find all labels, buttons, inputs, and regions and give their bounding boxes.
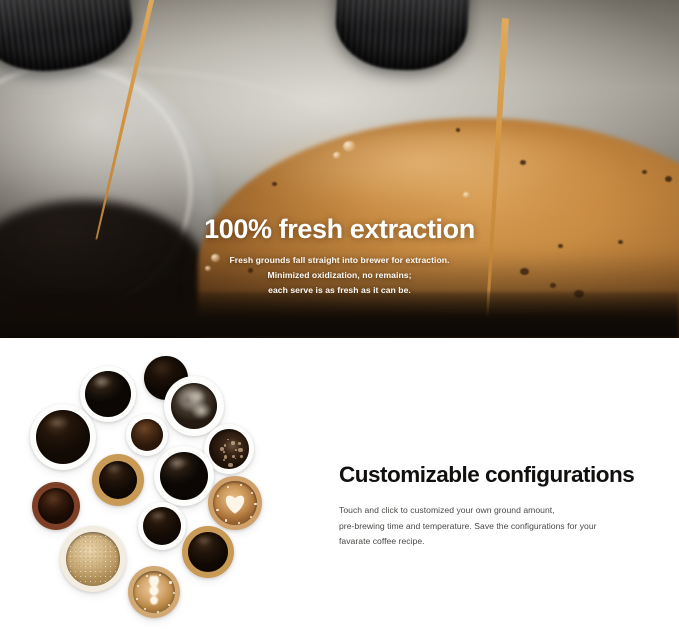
cup-liquid-surface xyxy=(38,488,74,524)
foam-mottle xyxy=(174,386,214,426)
cup-latte-art-rosetta-bottom xyxy=(128,566,180,618)
coffee-ground-speck xyxy=(272,182,277,186)
hero-section: 100% fresh extraction Fresh grounds fall… xyxy=(0,0,679,338)
coffee-bubble xyxy=(238,442,241,445)
liquid-reflection xyxy=(47,417,73,432)
feature-copy-block: Customizable configurations Touch and cl… xyxy=(339,462,657,550)
coffee-ground-speck xyxy=(520,160,526,165)
coffee-bubble xyxy=(224,444,227,447)
hero-subtitle-line: Fresh grounds fall straight into brewer … xyxy=(0,253,679,268)
hero-subtitle-line: Minimized oxidization, no remains; xyxy=(0,268,679,283)
cup-black-gold-rim-center xyxy=(92,454,144,506)
coffee-bubble xyxy=(228,463,232,467)
coffee-ground-speck xyxy=(456,128,460,132)
liquid-reflection xyxy=(95,377,117,389)
liquid-reflection xyxy=(150,512,169,523)
crema-bubble xyxy=(343,141,356,152)
foam-speck xyxy=(225,519,227,521)
coffee-bubble xyxy=(231,441,234,444)
foam-speck xyxy=(227,486,229,488)
coffee-bubble xyxy=(235,449,237,451)
cup-brown-crema-mid-top xyxy=(126,414,168,456)
hero-bottom-shadow-band xyxy=(0,292,679,338)
feature-section: Customizable configurations Touch and cl… xyxy=(0,338,679,633)
foam-speck xyxy=(169,581,171,583)
crema-bubble xyxy=(333,152,341,159)
hero-title: 100% fresh extraction xyxy=(0,214,679,244)
latte-art-rosetta xyxy=(146,576,162,608)
foam-speck xyxy=(254,503,256,505)
foam-speck xyxy=(157,611,159,613)
feature-body-line: Touch and click to customized your own g… xyxy=(339,503,657,519)
cup-large-black-left xyxy=(30,404,96,470)
hero-subtitle: Fresh grounds fall straight into brewer … xyxy=(0,253,679,297)
coffee-bubble xyxy=(223,451,225,453)
cup-black-plain-center-low xyxy=(138,502,186,550)
cup-dark-swirl-top-left xyxy=(80,366,136,422)
cup-latte-art-heart-right xyxy=(208,476,262,530)
cup-liquid-surface xyxy=(131,419,163,451)
crema-bubble xyxy=(463,192,470,198)
feature-body: Touch and click to customized your own g… xyxy=(339,503,657,550)
coffee-ground-speck xyxy=(665,176,672,182)
liquid-reflection xyxy=(170,458,194,471)
feature-body-line: favarate coffee recipe. xyxy=(339,534,657,550)
feature-body-line: pre-brewing time and temperature. Save t… xyxy=(339,519,657,535)
crema-foam-texture xyxy=(66,532,120,586)
product-feature-page: 100% fresh extraction Fresh grounds fall… xyxy=(0,0,679,633)
cup-golden-crema-foam-bottom xyxy=(60,526,126,592)
foam-speck xyxy=(250,516,252,518)
foam-speck xyxy=(216,509,218,511)
hero-copy-block: 100% fresh extraction Fresh grounds fall… xyxy=(0,214,679,298)
coffee-bubble xyxy=(238,448,242,452)
hero-subtitle-line: each serve is as fresh as it can be. xyxy=(0,283,679,298)
cup-dark-gloss-center xyxy=(154,446,214,506)
crema-surface-sheen xyxy=(250,128,630,224)
foam-speck xyxy=(159,574,161,576)
liquid-reflection xyxy=(106,464,127,475)
coffee-cups-collage xyxy=(18,354,290,622)
coffee-ground-speck xyxy=(642,170,647,174)
foam-speck xyxy=(137,585,139,587)
liquid-reflection xyxy=(196,536,217,547)
feature-title: Customizable configurations xyxy=(339,462,657,488)
cup-terracotta-rim-left xyxy=(32,482,80,530)
cup-dark-gold-ring-bottom xyxy=(182,526,234,578)
